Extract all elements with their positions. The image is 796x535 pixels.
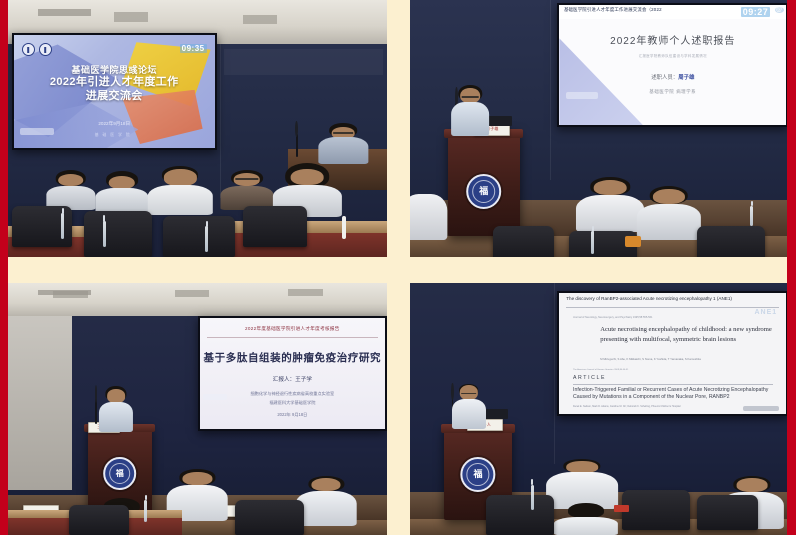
water-bottle xyxy=(531,485,534,510)
water-bottle xyxy=(205,226,208,252)
right-red-band xyxy=(787,0,796,535)
water-bottle xyxy=(750,206,753,227)
water-bottle xyxy=(591,231,594,254)
projector-control-bar xyxy=(743,406,779,411)
person-body xyxy=(148,185,212,215)
hall-scene-tr: 基础医学院引进人才年度工作进展交流会（2022 2022年教师个人述职报告 汇报… xyxy=(410,0,788,257)
glasses-icon xyxy=(462,96,479,98)
hall-scene-bl: 2022年度基础医学院引进人才年度考核报告 基于多肽自组装的肿瘤免疫治疗研究 汇… xyxy=(8,283,387,535)
ceiling-vent-icon xyxy=(288,289,322,296)
presenter-name: 周子雄 xyxy=(678,75,694,81)
poster-title-line3: 进展交流会 xyxy=(14,90,215,104)
projection-screen-tr: 基础医学院引进人才年度工作进展交流会（2022 2022年教师个人述职报告 汇报… xyxy=(557,3,788,128)
person-body xyxy=(554,517,618,535)
photo-grid: 基础医学院思彧论坛 2022年引进人才年度工作 进展交流会 2022年9月18日… xyxy=(0,0,796,535)
photo-bottom-left[interactable]: 2022年度基础医学院引进人才年度考核报告 基于多肽自组装的肿瘤免疫治疗研究 汇… xyxy=(8,283,387,535)
projector-control-bar xyxy=(566,92,598,99)
slide-rule xyxy=(207,337,378,338)
person-head xyxy=(594,180,627,196)
ceiling-vent-icon xyxy=(114,12,148,22)
person-body xyxy=(410,194,448,240)
person-body xyxy=(99,402,133,432)
person-head xyxy=(312,478,341,491)
speaker-person-bl xyxy=(99,386,133,431)
person-head xyxy=(737,478,768,492)
presenter-label: 述职人员： xyxy=(651,75,678,81)
audience-person xyxy=(637,186,701,240)
audience-person xyxy=(576,177,644,233)
audience-person xyxy=(95,171,148,213)
audience-person xyxy=(148,166,212,215)
audience-person xyxy=(554,503,618,535)
slide-report-cover: 基础医学院引进人才年度工作进展交流会（2022 2022年教师个人述职报告 汇报… xyxy=(559,5,786,126)
seat xyxy=(622,490,690,530)
projector-control-bar xyxy=(203,394,227,400)
presenter-label: 汇报人： xyxy=(273,377,295,383)
person-operator xyxy=(319,123,368,164)
glasses-icon xyxy=(235,178,258,180)
poster-title-line2: 2022年引进人才年度工作 xyxy=(14,76,215,90)
slide-research-cover: 2022年度基础医学院引进人才年度考核报告 基于多肽自组装的肿瘤免疫治疗研究 汇… xyxy=(200,318,386,429)
article-label: ARTICLE xyxy=(573,375,606,381)
person-head xyxy=(108,176,135,189)
wall-panel xyxy=(224,49,383,75)
wall-seam xyxy=(554,283,555,464)
person-head xyxy=(183,472,212,485)
glasses-icon xyxy=(334,132,354,134)
photo-top-left[interactable]: 基础医学院思彧论坛 2022年引进人才年度工作 进展交流会 2022年9月18日… xyxy=(8,0,387,257)
projection-screen-br: The discovery of RanBP2-associated Acute… xyxy=(557,291,788,416)
journal-ref-1: Journal of Neurology, Neurosurgery, and … xyxy=(573,316,653,319)
seat xyxy=(486,495,554,535)
seat xyxy=(697,495,757,530)
seat xyxy=(84,211,152,257)
seat xyxy=(163,216,235,257)
photo-top-right[interactable]: 基础医学院引进人才年度工作进展交流会（2022 2022年教师个人述职报告 汇报… xyxy=(410,0,788,257)
projector-control-bar xyxy=(20,128,54,135)
poster-date: 2022年9月18日 xyxy=(14,121,215,127)
person-body xyxy=(95,188,148,213)
person-head xyxy=(653,189,685,204)
microphone-icon xyxy=(296,134,298,157)
slide-rule xyxy=(573,384,773,385)
audience-person xyxy=(220,170,273,210)
person-body xyxy=(576,195,644,233)
person-head xyxy=(291,169,324,185)
laptop-icon xyxy=(486,116,512,126)
poster-logos xyxy=(22,43,52,56)
wall-seam xyxy=(550,0,551,180)
hall-scene-br: The discovery of RanBP2-associated Acute… xyxy=(410,283,788,535)
ceiling-vent-icon xyxy=(53,291,87,298)
slide-header-bl: 2022年度基础医学院引进人才年度考核报告 xyxy=(200,326,386,332)
seat xyxy=(697,226,765,257)
ceiling-vent-icon xyxy=(243,15,277,25)
slide-watermark: ANE1 xyxy=(754,309,777,316)
audience-person xyxy=(46,170,95,210)
seat xyxy=(493,226,553,257)
person-head xyxy=(164,169,196,186)
audience-person xyxy=(410,194,448,240)
slide-title-bl: 基于多肽自组装的肿瘤免疫治疗研究 xyxy=(200,350,386,365)
seat xyxy=(243,206,307,247)
hall-ceiling xyxy=(8,283,387,316)
person-body xyxy=(319,137,368,164)
water-bottle xyxy=(103,221,106,247)
hall-scene-tl: 基础医学院思彧论坛 2022年引进人才年度工作 进展交流会 2022年9月18日… xyxy=(8,0,387,257)
orange-object xyxy=(625,236,640,246)
paper-authors-1: M Mizuguchi, S Abe, K Mikkaichi, S Noma,… xyxy=(600,357,772,361)
projection-screen-tl: 基础医学院思彧论坛 2022年引进人才年度工作 进展交流会 2022年9月18日… xyxy=(12,33,217,150)
laptop-icon xyxy=(482,409,508,419)
glasses-icon xyxy=(461,393,477,395)
person-body xyxy=(452,399,486,429)
paper-title-2: Infection-Triggered Familial or Recurren… xyxy=(573,387,773,402)
poster-title: 基础医学院思彧论坛 2022年引进人才年度工作 进展交流会 xyxy=(14,65,215,104)
seat xyxy=(69,505,130,535)
left-red-band xyxy=(0,0,8,535)
seat xyxy=(235,500,303,535)
slide-date-bl: 2022年 9月18日 xyxy=(200,412,386,418)
audience-person xyxy=(546,459,618,509)
slide-lab-line1: 细胞化学与神经退行性疾病省高校重点实验室 xyxy=(200,391,386,397)
projection-screen-bl: 2022年度基础医学院引进人才年度考核报告 基于多肽自组装的肿瘤免疫治疗研究 汇… xyxy=(198,316,388,431)
journal-ref-2: The American Journal of Human Genetics 2… xyxy=(573,369,628,371)
ceiling-vent-icon xyxy=(175,290,209,297)
slide-decor-wedge xyxy=(559,38,650,127)
poster-title-line1: 基础医学院思彧论坛 xyxy=(14,65,215,76)
slide-lab-line2: 福建医科大学基础医学院 xyxy=(200,400,386,406)
water-bottle xyxy=(144,500,147,523)
paper-cup xyxy=(342,216,346,239)
person-head xyxy=(566,461,598,473)
slide-subtitle-tr: 汇报医学院教师队伍建设与学科发展情况 xyxy=(559,53,786,58)
water-bottle xyxy=(61,213,64,239)
person-body xyxy=(296,491,357,526)
paper-title-1: Acute necrotising encephalopathy of chil… xyxy=(600,325,772,344)
school-logo-icon xyxy=(39,43,52,56)
slide-paper: The discovery of RanBP2-associated Acute… xyxy=(559,293,786,414)
slide-title-tr: 2022年教师个人述职报告 xyxy=(559,32,786,47)
microphone-icon xyxy=(95,399,97,424)
slide-presenter-tr: 述职人员：周子雄 xyxy=(559,73,786,81)
clock-badge-icon: @ xyxy=(775,7,784,13)
slide-rule xyxy=(566,307,779,308)
person-body xyxy=(637,204,701,240)
slide-presenter-bl: 汇报人：王子学 xyxy=(200,375,386,383)
university-logo-icon xyxy=(22,43,35,56)
clock-overlay-tl: 09:35 xyxy=(180,44,207,53)
red-object xyxy=(614,505,629,513)
clock-overlay-tr: 09:27 xyxy=(741,7,771,17)
person-body xyxy=(452,102,490,136)
slide-header-br: The discovery of RanBP2-associated Acute… xyxy=(566,296,779,301)
audience-person xyxy=(296,476,357,526)
presenter-name: 王子学 xyxy=(295,377,312,383)
person-head xyxy=(58,174,84,187)
photo-bottom-right[interactable]: The discovery of RanBP2-associated Acute… xyxy=(410,283,788,535)
collage-page: 基础医学院思彧论坛 2022年引进人才年度工作 进展交流会 2022年9月18日… xyxy=(0,0,796,535)
speaker-person-tr xyxy=(452,85,490,136)
speaker-person-br xyxy=(452,384,486,429)
